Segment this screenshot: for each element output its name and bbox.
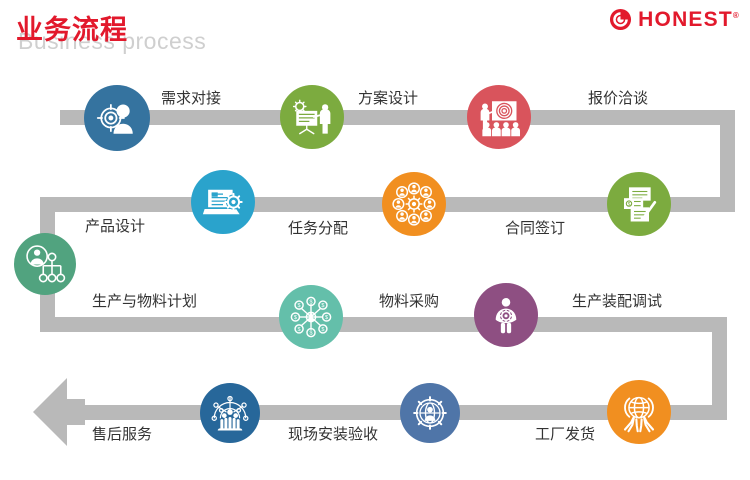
page-title: 业务流程 <box>16 8 128 47</box>
logo-word-text: HONEST <box>638 8 733 31</box>
business-process-diagram: Business process 业务流程 HONEST® <box>0 0 750 480</box>
worker-gear-icon <box>487 296 525 334</box>
globe-hands-icon <box>618 391 660 433</box>
gear-globe-person-icon <box>410 393 450 433</box>
logo-wordmark: HONEST® <box>638 9 740 30</box>
step-label-2: 方案设计 <box>358 87 418 108</box>
step-label-7: 生产与物料计划 <box>92 290 197 311</box>
step-label-1: 需求对接 <box>161 87 221 108</box>
connector-row3 <box>40 317 727 332</box>
step-node-5[interactable] <box>382 172 446 236</box>
step-node-12[interactable] <box>200 383 260 443</box>
laptop-gear-icon <box>202 181 244 223</box>
svg-text:$: $ <box>628 202 631 208</box>
step-label-11: 现场安装验收 <box>288 423 378 444</box>
step-label-10: 工厂发货 <box>535 423 595 444</box>
step-node-9[interactable] <box>474 283 538 347</box>
money-network-icon: $$ $$ $$ $$ <box>289 295 333 339</box>
svg-text:$: $ <box>294 315 297 321</box>
svg-text:$: $ <box>298 327 301 333</box>
trademark-symbol: ® <box>733 11 740 20</box>
network-people-icon <box>209 392 251 434</box>
connector-row1 <box>60 110 735 125</box>
step-label-3: 报价洽谈 <box>588 87 648 108</box>
svg-text:$: $ <box>309 331 312 337</box>
svg-text:$: $ <box>309 299 312 305</box>
flow-arrowhead-icon <box>33 377 85 447</box>
step-node-4[interactable]: $ <box>607 172 671 236</box>
svg-text:$: $ <box>321 303 324 309</box>
presentation-gear-icon <box>291 96 333 138</box>
step-node-6[interactable] <box>191 170 255 234</box>
step-node-3[interactable] <box>467 85 531 149</box>
svg-text:$: $ <box>298 303 301 309</box>
team-gear-icon <box>392 182 436 226</box>
brand-logo: HONEST® <box>609 8 740 31</box>
step-node-8[interactable]: $$ $$ $$ $$ <box>279 285 343 349</box>
step-label-12: 售后服务 <box>92 423 152 444</box>
target-person-icon <box>96 97 138 139</box>
step-label-4: 合同签订 <box>505 217 565 238</box>
step-node-11[interactable] <box>400 383 460 443</box>
org-chart-person-icon <box>24 243 66 285</box>
step-label-8: 物料采购 <box>379 290 439 311</box>
presenter-audience-icon <box>478 96 520 138</box>
honest-swirl-icon <box>609 8 632 31</box>
step-label-5: 任务分配 <box>288 217 348 238</box>
contract-pen-icon: $ <box>619 184 659 224</box>
step-node-1[interactable] <box>84 85 150 151</box>
step-node-2[interactable] <box>280 85 344 149</box>
step-label-9: 生产装配调试 <box>572 290 662 311</box>
svg-text:$: $ <box>321 327 324 333</box>
step-node-10[interactable] <box>607 380 671 444</box>
step-label-6: 产品设计 <box>85 215 145 236</box>
step-node-7[interactable] <box>14 233 76 295</box>
svg-text:$: $ <box>325 315 328 321</box>
